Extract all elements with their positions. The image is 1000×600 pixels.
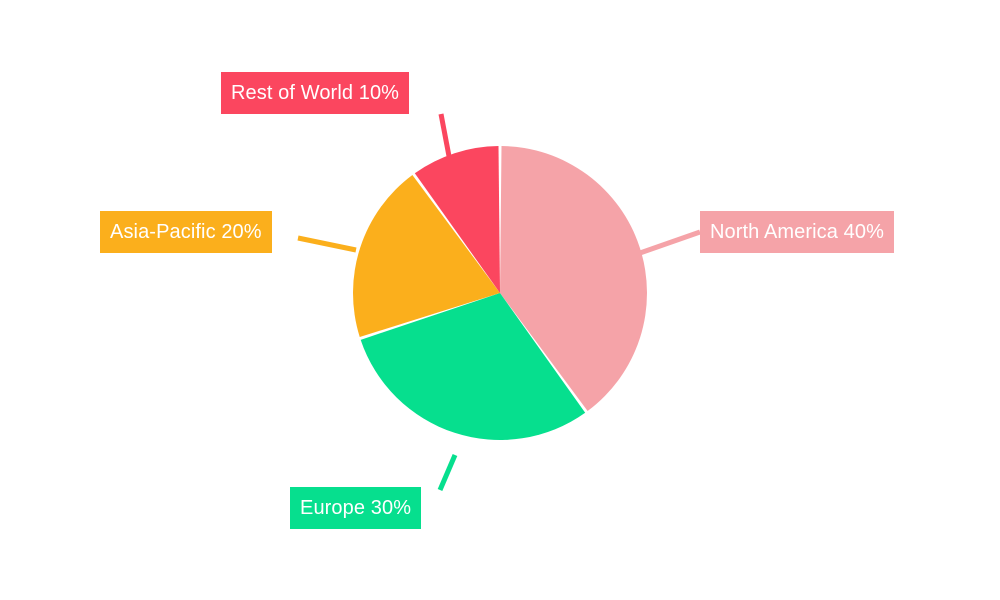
slice-label-asia-pacific[interactable]: Asia-Pacific 20% xyxy=(100,211,272,253)
pie-chart-figure: North America 40% Europe 30% Asia-Pacifi… xyxy=(0,0,1000,600)
slice-label-rest-of-world[interactable]: Rest of World 10% xyxy=(221,72,409,114)
leader-line-europe xyxy=(440,455,455,490)
pie-slices-group xyxy=(353,146,647,440)
pie-chart-canvas xyxy=(0,0,1000,600)
slice-label-north-america[interactable]: North America 40% xyxy=(700,211,894,253)
leader-line-north-america xyxy=(640,232,700,253)
leader-line-asia-pacific xyxy=(298,238,356,250)
slice-label-europe[interactable]: Europe 30% xyxy=(290,487,421,529)
